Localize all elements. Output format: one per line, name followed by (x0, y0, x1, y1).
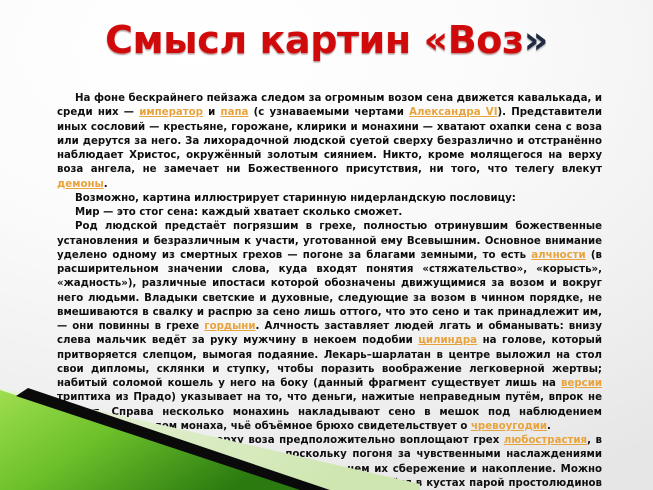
slide-title-closing-quote: » (524, 18, 548, 62)
body-link[interactable]: алчности (531, 250, 585, 261)
slide-body-text: На фоне бескрайнего пейзажа следом за ог… (57, 92, 602, 490)
body-paragraph-5: Влюблённые пары на верху воза предположи… (57, 434, 602, 490)
presentation-slide: Смысл картин «Воз» На фоне бескрайнего п… (0, 0, 653, 490)
body-paragraph-2: Возможно, картина иллюстрирует старинную… (57, 192, 602, 206)
body-paragraph-1: На фоне бескрайнего пейзажа следом за ог… (57, 92, 602, 192)
body-link[interactable]: любострастия (504, 435, 587, 446)
slide-title: Смысл картин «Воз» (0, 21, 653, 61)
body-link[interactable]: Александра VI (409, 107, 497, 118)
body-link[interactable]: демоны (57, 179, 104, 190)
body-paragraph-3: Мир — это стог сена: каждый хватает скол… (57, 206, 602, 220)
body-link[interactable]: император (139, 107, 203, 118)
body-link[interactable]: папа (221, 107, 249, 118)
slide-title-main: Смысл картин «Воз (105, 18, 524, 62)
body-link[interactable]: цилиндра (418, 335, 477, 346)
body-link[interactable]: версии (561, 378, 602, 389)
body-link[interactable]: чревоугодии (471, 421, 547, 432)
body-paragraph-4: Род людской предстаёт погрязшим в грехе,… (57, 220, 602, 434)
body-link[interactable]: гордыни (204, 321, 255, 332)
